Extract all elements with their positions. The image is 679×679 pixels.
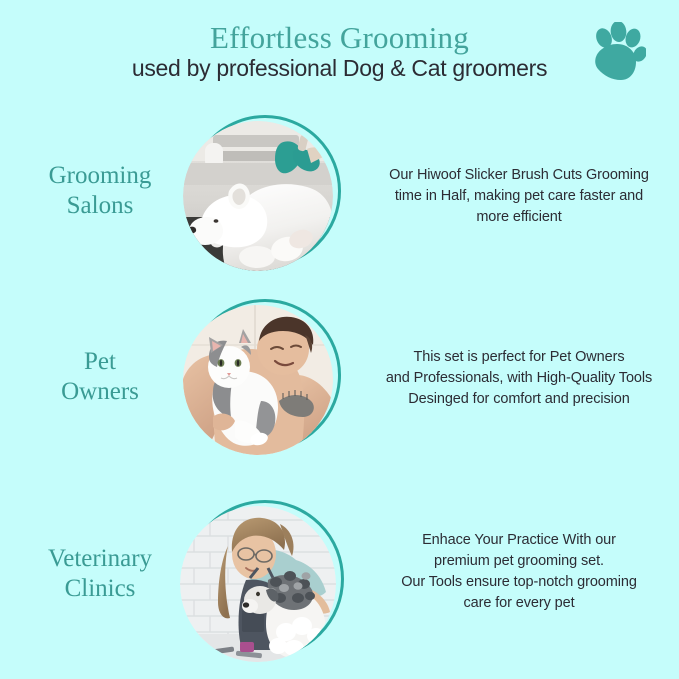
section-description-pet-owners: This set is perfect for Pet Owners and P… — [368, 347, 670, 410]
section-label-line-1: Veterinary — [10, 544, 190, 574]
description-line: premium pet grooming set. — [368, 551, 670, 572]
paw-print-icon — [590, 22, 646, 84]
veterinary-clinics-photo — [180, 506, 336, 662]
header-banner: Effortless Grooming used by professional… — [0, 0, 679, 100]
pet-owners-photo-wrap — [178, 297, 346, 465]
section-description-grooming-salons: Our Hiwoof Slicker Brush Cuts Grooming t… — [368, 165, 670, 228]
section-label-line-1: Pet — [10, 347, 190, 377]
grooming-salons-photo — [183, 121, 333, 271]
veterinary-clinics-photo-wrap — [176, 498, 344, 666]
description-line: This set is perfect for Pet Owners — [368, 347, 670, 368]
section-label-pet-owners: Pet Owners — [10, 347, 190, 406]
description-line: and Professionals, with High-Quality Too… — [368, 368, 670, 389]
section-label-line-2: Salons — [10, 191, 190, 221]
section-description-veterinary-clinics: Enhace Your Practice With our premium pe… — [368, 530, 670, 614]
section-pet-owners: Pet Owners — [0, 285, 679, 475]
pet-owners-photo — [183, 305, 333, 455]
description-line: Desinged for comfort and precision — [368, 389, 670, 410]
grooming-salons-photo-wrap — [178, 113, 346, 281]
description-line: Our Hiwoof Slicker Brush Cuts Grooming — [368, 165, 670, 186]
section-label-line-1: Grooming — [10, 161, 190, 191]
section-veterinary-clinics: Veterinary Clinics — [0, 478, 679, 668]
section-label-line-2: Owners — [10, 377, 190, 407]
description-line: more efficient — [368, 207, 670, 228]
section-label-grooming-salons: Grooming Salons — [10, 161, 190, 220]
page-subtitle: used by professional Dog & Cat groomers — [0, 55, 679, 82]
section-grooming-salons: Grooming Salons — [0, 95, 679, 285]
section-label-veterinary-clinics: Veterinary Clinics — [10, 544, 190, 603]
section-label-line-2: Clinics — [10, 574, 190, 604]
description-line: Enhace Your Practice With our — [368, 530, 670, 551]
description-line: time in Half, making pet care faster and — [368, 186, 670, 207]
description-line: Our Tools ensure top-notch grooming — [368, 572, 670, 593]
page-title: Effortless Grooming — [0, 20, 679, 56]
description-line: care for every pet — [368, 593, 670, 614]
